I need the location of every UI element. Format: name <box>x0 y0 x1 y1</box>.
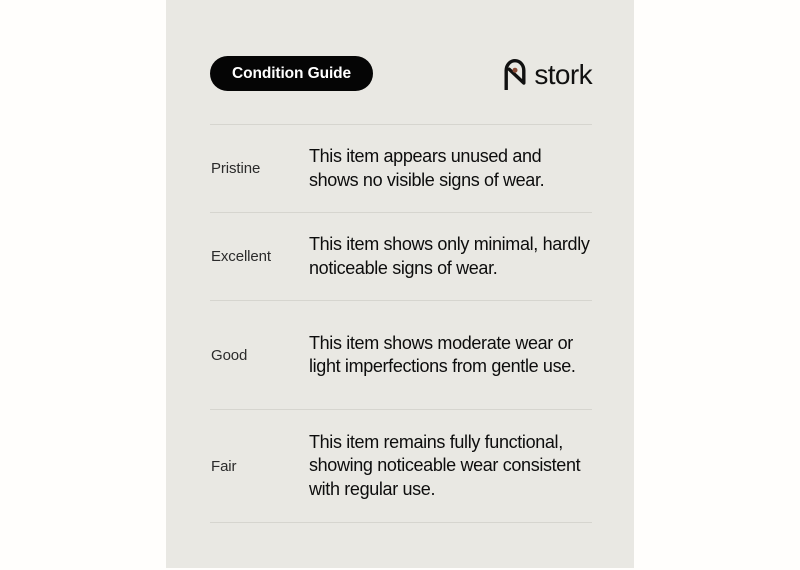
condition-description: This item remains fully functional, show… <box>309 431 592 501</box>
card-header: Condition Guide stork <box>210 56 592 92</box>
condition-description: This item appears unused and shows no vi… <box>309 145 592 191</box>
condition-label: Excellent <box>210 248 309 265</box>
brand-wordmark: stork <box>534 61 592 89</box>
table-row: Fair This item remains fully functional,… <box>210 410 592 522</box>
condition-label: Good <box>210 347 309 364</box>
condition-guide-card: Condition Guide stork Pristine This item… <box>166 0 634 568</box>
table-row: Excellent This item shows only minimal, … <box>210 213 592 300</box>
table-row: Pristine This item appears unused and sh… <box>210 125 592 212</box>
condition-label: Pristine <box>210 160 309 177</box>
condition-label: Fair <box>210 458 309 475</box>
stork-arch-logo-icon <box>503 59 527 90</box>
brand-lockup: stork <box>503 57 592 91</box>
condition-description: This item shows moderate wear or light i… <box>309 332 592 378</box>
table-divider-bottom <box>210 522 592 523</box>
table-row: Good This item shows moderate wear or li… <box>210 301 592 409</box>
condition-description: This item shows only minimal, hardly not… <box>309 233 592 279</box>
condition-guide-badge: Condition Guide <box>210 56 373 91</box>
condition-table: Pristine This item appears unused and sh… <box>210 124 592 523</box>
screenshot-canvas: Condition Guide stork Pristine This item… <box>0 0 800 570</box>
